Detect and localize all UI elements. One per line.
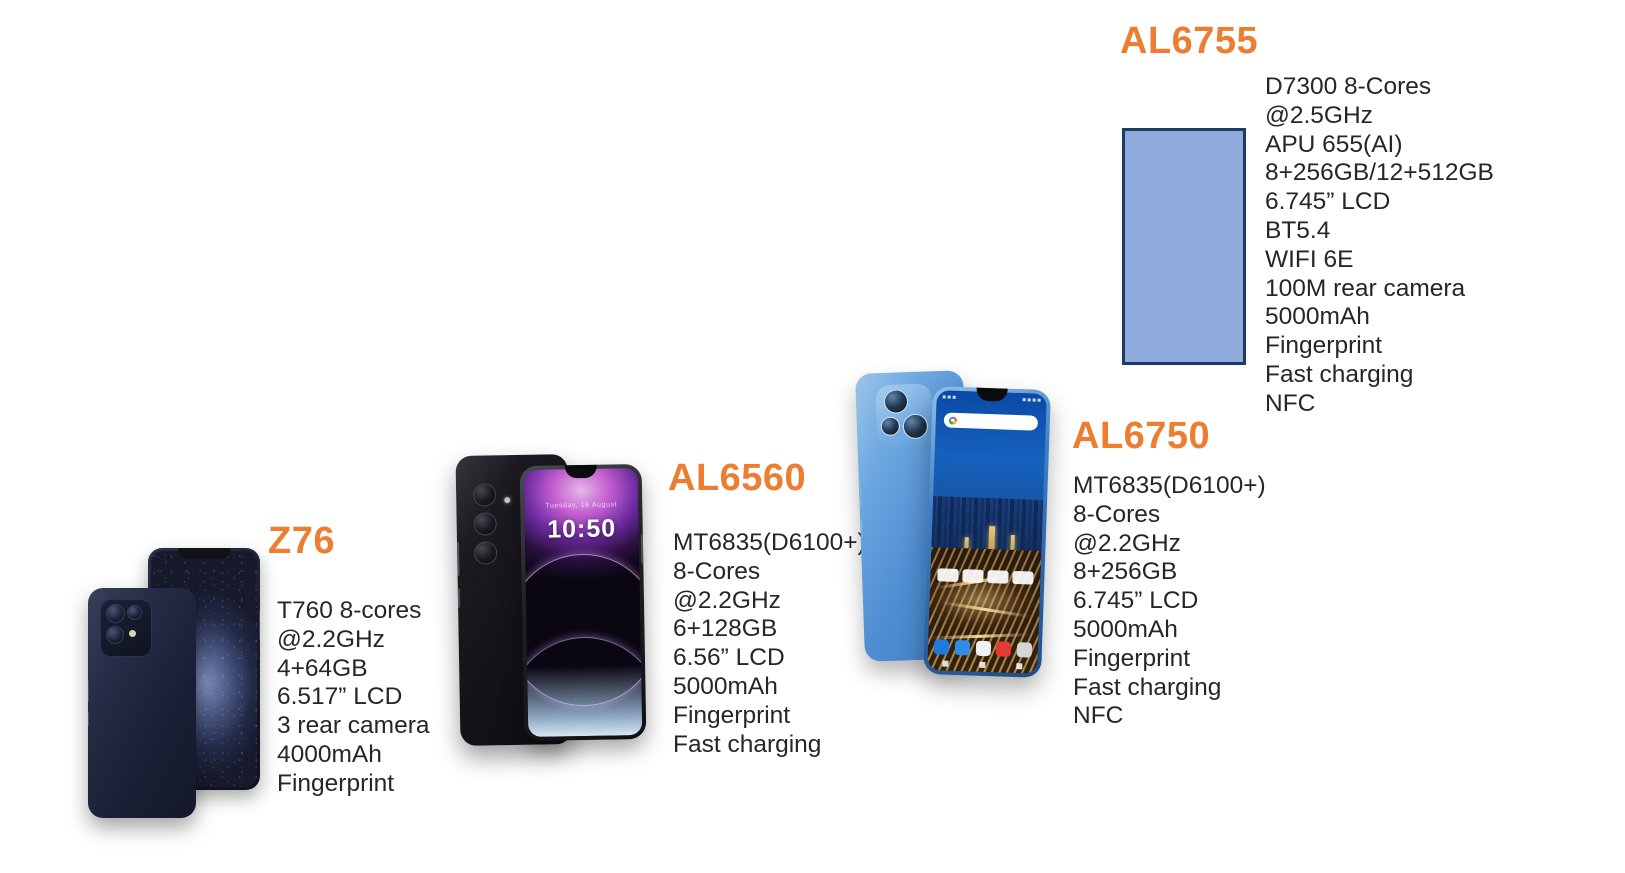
status-right-icons [1023, 398, 1041, 402]
al6750-lens-1 [884, 389, 909, 414]
camera-icon [1017, 642, 1033, 658]
spec-line: NFC [1073, 702, 1266, 731]
spec-line: 6.56” LCD [673, 644, 866, 673]
spec-list-al6750: MT6835(D6100+) 8-Cores @2.2GHz 8+256GB 6… [1073, 472, 1266, 731]
product-title-al6750: AL6750 [1072, 417, 1210, 455]
al6560-front-device: Tuesday, 16 August 10:50 [520, 464, 647, 741]
spec-line: 8+256GB/12+512GB [1265, 159, 1494, 188]
spec-line: Fingerprint [277, 770, 430, 799]
spec-line: Fast charging [1073, 674, 1266, 703]
spec-list-al6755: D7300 8-Cores @2.5GHz APU 655(AI) 8+256G… [1265, 73, 1494, 419]
spec-line: @2.2GHz [1073, 530, 1266, 559]
spec-line: WIFI 6E [1265, 246, 1494, 275]
z76-power-button [259, 610, 260, 640]
road-light-streak [941, 601, 1030, 618]
spec-line: NFC [1265, 390, 1494, 419]
al6750-camera-module [875, 383, 933, 447]
z76-flash [129, 630, 136, 637]
back-icon [943, 660, 949, 666]
spec-line: 3 rear camera [277, 712, 430, 741]
al6560-lens-2 [473, 512, 496, 535]
al6750-front-screen [927, 390, 1047, 674]
spec-line: Fingerprint [1265, 332, 1494, 361]
product-title-al6560: AL6560 [668, 459, 806, 497]
al6755-image-placeholder [1122, 128, 1246, 365]
spec-line: @2.5GHz [1265, 102, 1494, 131]
recents-icon [1016, 663, 1022, 669]
youtube-icon [996, 641, 1012, 657]
spec-line: 6.745” LCD [1265, 188, 1494, 217]
chrome-icon [975, 641, 991, 657]
spec-line: MT6835(D6100+) [1073, 472, 1266, 501]
spec-line: Fingerprint [673, 702, 866, 731]
home-icon [979, 661, 985, 667]
spec-list-z76: T760 8-cores @2.2GHz 4+64GB 6.517” LCD 3… [277, 597, 430, 799]
al6560-volume-button [455, 542, 459, 576]
spec-line: D7300 8-Cores [1265, 73, 1494, 102]
slide-canvas: Z76 T760 8-cores @2.2GHz 4+64GB 6.517” L… [0, 0, 1625, 873]
spec-line: @2.2GHz [277, 626, 430, 655]
app-icon [1012, 571, 1033, 585]
spec-line: 100M rear camera [1265, 275, 1494, 304]
spec-list-al6560: MT6835(D6100+) 8-Cores @2.2GHz 6+128GB 6… [673, 529, 866, 759]
spec-line: T760 8-cores [277, 597, 430, 626]
spec-line: 4000mAh [277, 741, 430, 770]
spec-line: 5000mAh [1265, 303, 1494, 332]
z76-lens-2 [127, 605, 142, 620]
spec-line: 5000mAh [1073, 616, 1266, 645]
road-light-streak [931, 633, 1030, 639]
al6750-front-device [923, 386, 1051, 678]
al6560-front-power-button [641, 534, 646, 564]
al6560-lock-time: 10:50 [524, 514, 638, 545]
spec-line: 8-Cores [673, 558, 866, 587]
z76-lens-3 [106, 626, 124, 644]
spec-line: @2.2GHz [673, 587, 866, 616]
spec-line: 5000mAh [673, 673, 866, 702]
phone-icon [934, 639, 950, 655]
spec-line: 8-Cores [1073, 501, 1266, 530]
z76-lens-1 [106, 604, 125, 623]
app-icon [937, 568, 958, 582]
spec-line: 6.517” LCD [277, 683, 430, 712]
al6560-front-screen: Tuesday, 16 August 10:50 [524, 468, 643, 737]
z76-camera-module [100, 599, 152, 657]
z76-back-device [88, 588, 196, 818]
spec-line: MT6835(D6100+) [673, 529, 866, 558]
product-title-al6755: AL6755 [1120, 22, 1258, 60]
app-icon [962, 569, 983, 583]
al6560-flash [504, 497, 510, 503]
product-title-z76: Z76 [268, 522, 335, 560]
z76-volume-button [88, 680, 89, 702]
al6560-screen-glow [527, 665, 642, 737]
spec-line: 4+64GB [277, 655, 430, 684]
spec-line: Fingerprint [1073, 645, 1266, 674]
al6560-lens-3 [474, 541, 497, 564]
al6560-lens-1 [473, 483, 496, 506]
spec-line: APU 655(AI) [1265, 131, 1494, 160]
al6560-lock-date: Tuesday, 16 August [524, 501, 638, 510]
google-icon [949, 416, 957, 424]
z76-sim-tray [88, 712, 89, 726]
spec-line: 6.745” LCD [1073, 587, 1266, 616]
spec-line: Fast charging [673, 731, 866, 760]
spec-line: 6+128GB [673, 615, 866, 644]
al6750-volume-button [857, 478, 862, 508]
al6750-lens-2 [881, 416, 901, 436]
spec-line: Fast charging [1265, 361, 1494, 390]
spec-line: BT5.4 [1265, 217, 1494, 246]
al6560-power-button [456, 588, 460, 608]
status-left-icons [943, 395, 956, 398]
z76-notch [178, 548, 230, 559]
app-icon [987, 570, 1008, 584]
messages-icon [954, 640, 970, 656]
spec-line: 8+256GB [1073, 558, 1266, 587]
al6750-lens-3 [902, 413, 928, 439]
